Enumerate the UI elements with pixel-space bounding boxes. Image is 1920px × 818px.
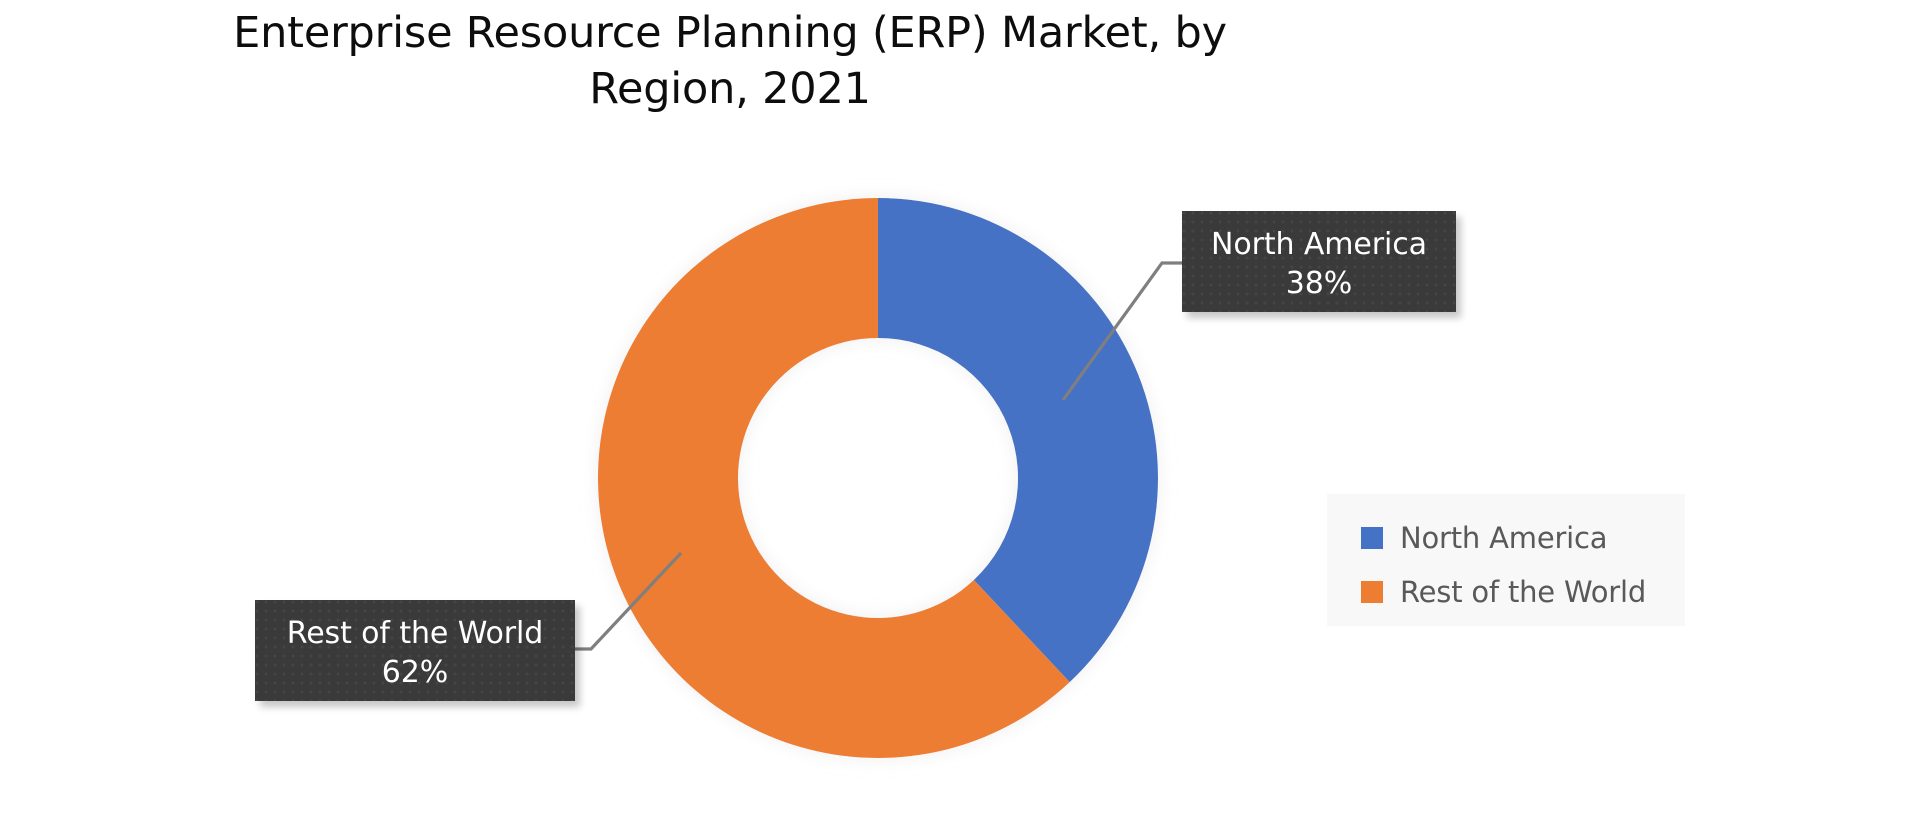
- data-label-north-america[interactable]: North America 38%: [1182, 211, 1456, 312]
- legend-label-north-america: North America: [1400, 524, 1607, 553]
- donut-chart-svg: [598, 198, 1158, 758]
- legend-swatch-rest-of-the-world: [1361, 581, 1383, 603]
- donut-slice-north-america[interactable]: [878, 198, 1158, 682]
- data-label-rest-of-the-world[interactable]: Rest of the World 62%: [255, 600, 575, 701]
- legend-item-rest-of-the-world[interactable]: Rest of the World: [1361, 570, 1685, 614]
- legend-label-rest-of-the-world: Rest of the World: [1400, 578, 1646, 607]
- chart-title: Enterprise Resource Planning (ERP) Marke…: [150, 6, 1310, 118]
- chart-legend: North America Rest of the World: [1327, 494, 1685, 626]
- legend-item-north-america[interactable]: North America: [1361, 516, 1685, 560]
- donut-chart: [598, 198, 1158, 758]
- legend-swatch-north-america: [1361, 527, 1383, 549]
